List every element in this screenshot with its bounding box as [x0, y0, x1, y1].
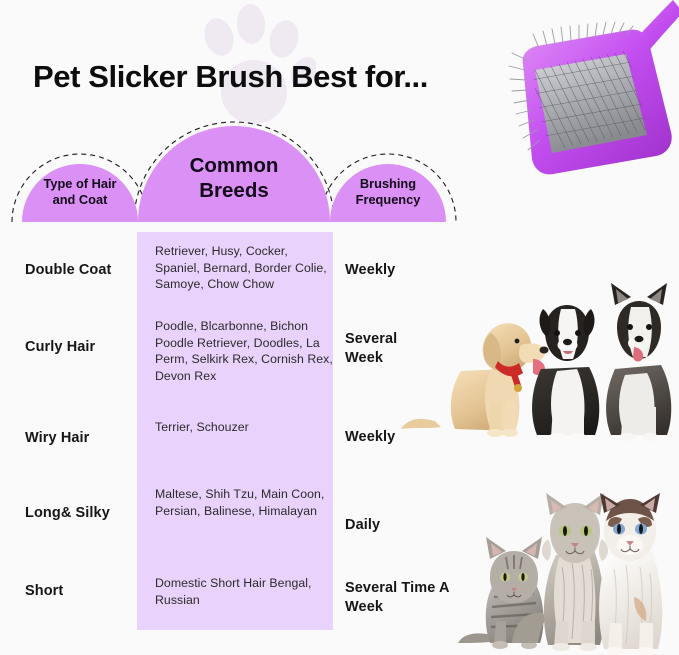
coat-type-label: Short [25, 583, 63, 599]
header-label-line2: and Coat [53, 192, 108, 207]
breeds-cell: Terrier, Schouzer [155, 419, 335, 436]
coat-type-label: Long& Silky [25, 505, 110, 521]
header-label-line1: Type of Hair [43, 176, 116, 191]
header-arch-brushing-frequency: Brushing Frequency [330, 164, 446, 222]
header-label-line2: Frequency [356, 192, 422, 207]
breeds-cell: Poodle, Blcarbonne, Bichon Poodle Retrie… [155, 318, 335, 384]
header-arch-type-of-hair-and-coat: Type of Hair and Coat [22, 164, 138, 222]
coat-type-label: Double Coat [25, 262, 112, 278]
header-label-line1: Brushing [360, 176, 416, 191]
pet-slicker-brush-infographic: Pet Slicker Brush Best for... [0, 0, 679, 655]
border-collie [532, 305, 599, 441]
dogs-photo [399, 283, 679, 443]
page-title: Pet Slicker Brush Best for... [33, 59, 428, 95]
breeds-cell: Maltese, Shih Tzu, Main Coon, Persian, B… [155, 486, 335, 519]
breeds-cell: Domestic Short Hair Bengal, Russian [155, 575, 335, 608]
breeds-cell: Retriever, Husy, Cocker, Spaniel, Bernar… [155, 243, 335, 293]
ragdoll-cat [599, 493, 662, 655]
header-arch-common-breeds: Common Breeds [138, 126, 330, 222]
coat-type-label: Wiry Hair [25, 430, 89, 446]
slicker-brush-image [487, 0, 679, 198]
header-label-line2: Breeds [199, 179, 269, 202]
header-label-line1: Common [190, 154, 279, 177]
column-headers-arches: Type of Hair and Coat Common Breeds Brus… [0, 118, 470, 222]
frequency-cell: Weekly [345, 261, 475, 280]
coat-type-label: Curly Hair [25, 339, 95, 355]
cats-photo [452, 493, 679, 655]
